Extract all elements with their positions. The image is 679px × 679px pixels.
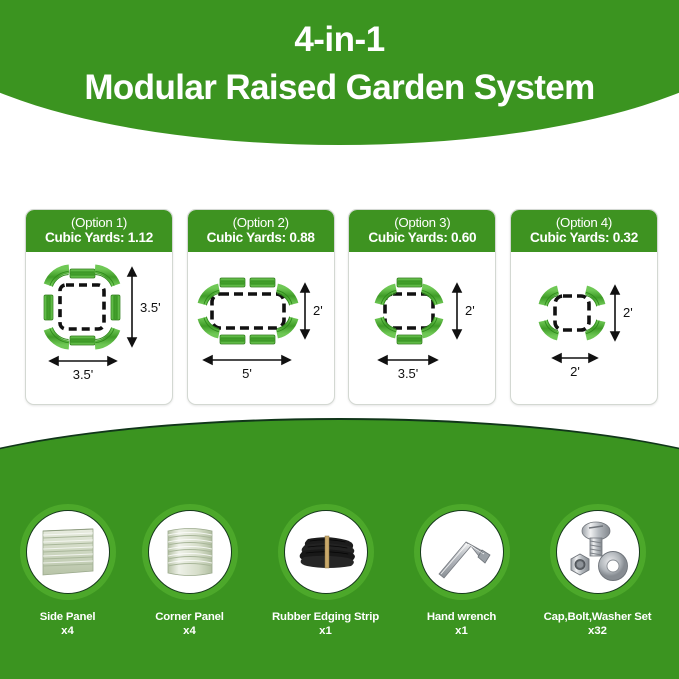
side-panel-bottom	[70, 336, 95, 345]
option-3-height-label: 2'	[465, 303, 475, 318]
side-panels-bottom	[220, 335, 275, 344]
side-panel-top	[397, 278, 422, 287]
option-card-1-cubic-yards: Cubic Yards: 1.12	[28, 230, 170, 245]
height-dimension	[453, 284, 461, 338]
side-panel-circle-ring	[20, 504, 116, 600]
cap-bolt-washer-icon	[562, 516, 634, 588]
side-panels-top	[220, 278, 275, 287]
hand-wrench-icon	[426, 516, 498, 588]
side-panel-left	[44, 295, 53, 320]
hand-wrench-circle-ring	[414, 504, 510, 600]
side-panel-label: Side Panel	[18, 610, 118, 624]
corner-panel-circle-ring	[142, 504, 238, 600]
option-card-2-cubic-yards: Cubic Yards: 0.88	[190, 230, 332, 245]
corner-panel-qty: x4	[140, 624, 240, 638]
option-card-4-cubic-yards: Cubic Yards: 0.32	[513, 230, 655, 245]
option-4-height-label: 2'	[623, 305, 633, 320]
header-text-block: 4-in-1 Modular Raised Garden System	[0, 0, 679, 105]
option-3-width-label: 3.5'	[398, 366, 419, 381]
option-4-layout-diagram: 2' 2'	[511, 252, 658, 400]
side-panel-bottom	[397, 335, 422, 344]
part-item-rubber-edging-strip: Rubber Edging Strip x1	[262, 504, 390, 639]
corner-panel-icon	[155, 517, 225, 587]
option-card-3-option-label: (Option 3)	[351, 215, 493, 230]
side-panel-qty: x4	[18, 624, 118, 638]
option-2-height-label: 2'	[313, 303, 323, 318]
rubber-edging-circle-ring	[278, 504, 374, 600]
option-card-2-header: (Option 2) Cubic Yards: 0.88	[188, 210, 334, 252]
option-2-width-label: 5'	[242, 366, 252, 381]
rubber-edging-strip-icon	[289, 515, 363, 589]
parts-section: Side Panel x4	[0, 418, 679, 679]
option-card-3-header: (Option 3) Cubic Yards: 0.60	[349, 210, 495, 252]
width-dimension	[379, 356, 437, 364]
width-dimension	[553, 354, 597, 362]
part-item-cap-bolt-washer: Cap,Bolt,Washer Set x32	[534, 504, 662, 639]
height-dimension	[301, 284, 309, 338]
option-card-3[interactable]: (Option 3) Cubic Yards: 0.60	[348, 209, 496, 405]
corner-panel-circle	[148, 510, 232, 594]
option-card-1[interactable]: (Option 1) Cubic Yards: 1.12	[25, 209, 173, 405]
cap-bolt-washer-qty: x32	[534, 624, 662, 638]
side-panel-right	[111, 295, 120, 320]
cap-bolt-washer-circle-ring	[550, 504, 646, 600]
rubber-edging-strip-qty: x1	[262, 624, 390, 638]
option-card-1-header: (Option 1) Cubic Yards: 1.12	[26, 210, 172, 252]
page-title-line-2: Modular Raised Garden System	[0, 57, 679, 105]
option-cards-row: (Option 1) Cubic Yards: 1.12	[25, 209, 658, 405]
option-card-2-body: 2' 5'	[188, 252, 334, 400]
width-dimension	[50, 357, 116, 365]
part-item-corner-panel: Corner Panel x4	[140, 504, 240, 639]
page-title-line-1: 4-in-1	[0, 0, 679, 57]
option-card-2-option-label: (Option 2)	[190, 215, 332, 230]
part-item-side-panel: Side Panel x4	[18, 504, 118, 639]
part-item-hand-wrench: Hand wrench x1	[412, 504, 512, 639]
option-card-3-cubic-yards: Cubic Yards: 0.60	[351, 230, 493, 245]
height-dimension	[611, 286, 619, 340]
option-1-height-label: 3.5'	[140, 300, 161, 315]
side-panel-icon	[33, 517, 103, 587]
side-panel-top	[70, 269, 95, 278]
hand-wrench-circle	[420, 510, 504, 594]
option-card-1-body: 3.5' 3.5'	[26, 252, 172, 400]
parts-list: Side Panel x4	[0, 504, 679, 639]
option-card-1-option-label: (Option 1)	[28, 215, 170, 230]
option-card-3-body: 2' 3.5'	[349, 252, 495, 400]
cap-bolt-washer-circle	[556, 510, 640, 594]
option-3-layout-diagram: 2' 3.5'	[349, 252, 496, 400]
option-2-layout-diagram: 2' 5'	[188, 252, 335, 400]
option-4-width-label: 2'	[570, 364, 580, 379]
page-header: 4-in-1 Modular Raised Garden System	[0, 0, 679, 145]
cap-bolt-washer-label: Cap,Bolt,Washer Set	[534, 610, 662, 624]
hand-wrench-label: Hand wrench	[412, 610, 512, 624]
option-card-4[interactable]: (Option 4) Cubic Yards: 0.32	[510, 209, 658, 405]
corner-panel-label: Corner Panel	[140, 610, 240, 624]
option-card-4-option-label: (Option 4)	[513, 215, 655, 230]
option-1-layout-diagram: 3.5' 3.5'	[26, 252, 173, 400]
width-dimension	[204, 356, 290, 364]
option-card-2[interactable]: (Option 2) Cubic Yards: 0.88	[187, 209, 335, 405]
rubber-edging-strip-label: Rubber Edging Strip	[262, 610, 390, 624]
rubber-edging-circle	[284, 510, 368, 594]
option-card-4-header: (Option 4) Cubic Yards: 0.32	[511, 210, 657, 252]
hand-wrench-qty: x1	[412, 624, 512, 638]
side-panel-circle	[26, 510, 110, 594]
option-card-4-body: 2' 2'	[511, 252, 657, 400]
option-1-width-label: 3.5'	[73, 367, 94, 382]
height-dimension	[128, 268, 136, 346]
